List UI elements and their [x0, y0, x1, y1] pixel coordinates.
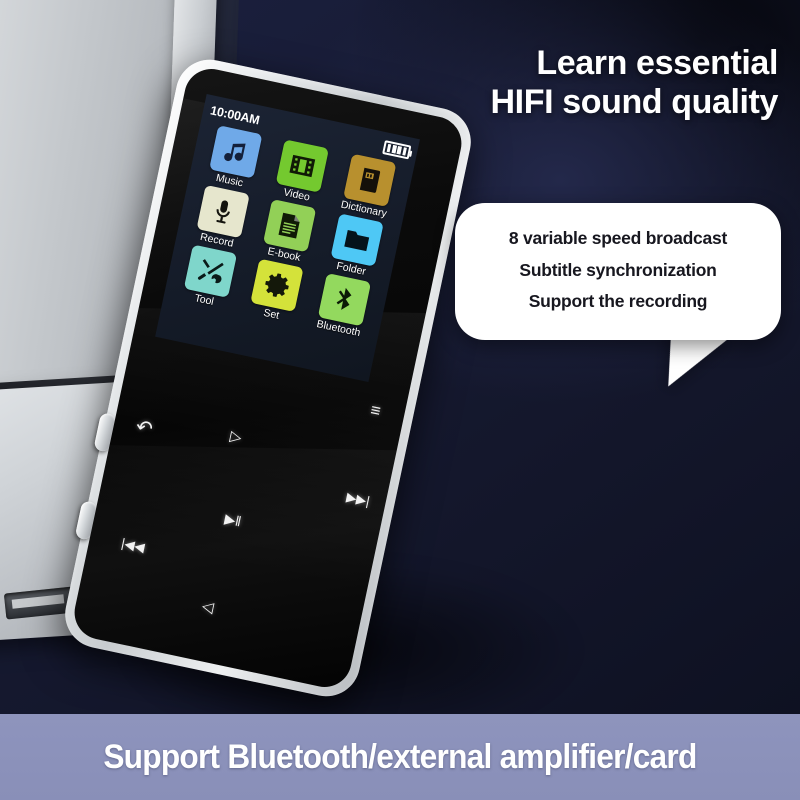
app-cell-record[interactable]: Record	[184, 183, 259, 253]
app-cell-e-book[interactable]: E-book	[251, 197, 326, 267]
headline: Learn essential HIFI sound quality	[491, 44, 778, 123]
microphone-icon[interactable]	[196, 185, 249, 238]
up-button[interactable]: ▷	[229, 429, 243, 446]
headline-line-2: HIFI sound quality	[491, 83, 778, 122]
bottom-banner: Support Bluetooth/external amplifier/car…	[0, 714, 800, 800]
music-note-icon[interactable]	[209, 125, 262, 178]
bluetooth-icon[interactable]	[318, 273, 371, 326]
battery-icon	[382, 140, 411, 159]
background-scene: 10:00AM MusicVideoDictionaryRecordE-book…	[0, 0, 800, 800]
app-cell-dictionary[interactable]: Dictionary	[331, 152, 406, 222]
banner-text: Support Bluetooth/external amplifier/car…	[103, 738, 696, 777]
app-cell-music[interactable]: Music	[197, 123, 272, 193]
feature-line-3: Support the recording	[469, 286, 767, 318]
app-cell-bluetooth[interactable]: Bluetooth	[306, 271, 381, 341]
app-cell-folder[interactable]: Folder	[318, 211, 393, 281]
play-pause-button[interactable]: ▶‖	[223, 511, 242, 528]
app-label-tool: Tool	[193, 292, 214, 308]
feature-line-2: Subtitle synchronization	[469, 255, 767, 287]
headline-line-1: Learn essential	[491, 44, 778, 83]
film-strip-icon[interactable]	[276, 139, 329, 192]
app-label-set: Set	[262, 307, 280, 322]
feature-line-1: 8 variable speed broadcast	[469, 223, 767, 255]
document-icon[interactable]	[263, 199, 316, 252]
app-cell-tool[interactable]: Tool	[171, 242, 246, 312]
folder-icon[interactable]	[331, 213, 384, 266]
app-cell-video[interactable]: Video	[264, 137, 339, 207]
app-cell-set[interactable]: Set	[238, 257, 313, 327]
gear-icon[interactable]	[251, 259, 304, 312]
book-icon[interactable]	[343, 154, 396, 207]
clock-label: 10:00AM	[209, 103, 261, 127]
tools-icon[interactable]	[184, 244, 237, 297]
down-button[interactable]: ◁	[201, 598, 215, 615]
speech-bubble: 8 variable speed broadcast Subtitle sync…	[455, 203, 781, 340]
